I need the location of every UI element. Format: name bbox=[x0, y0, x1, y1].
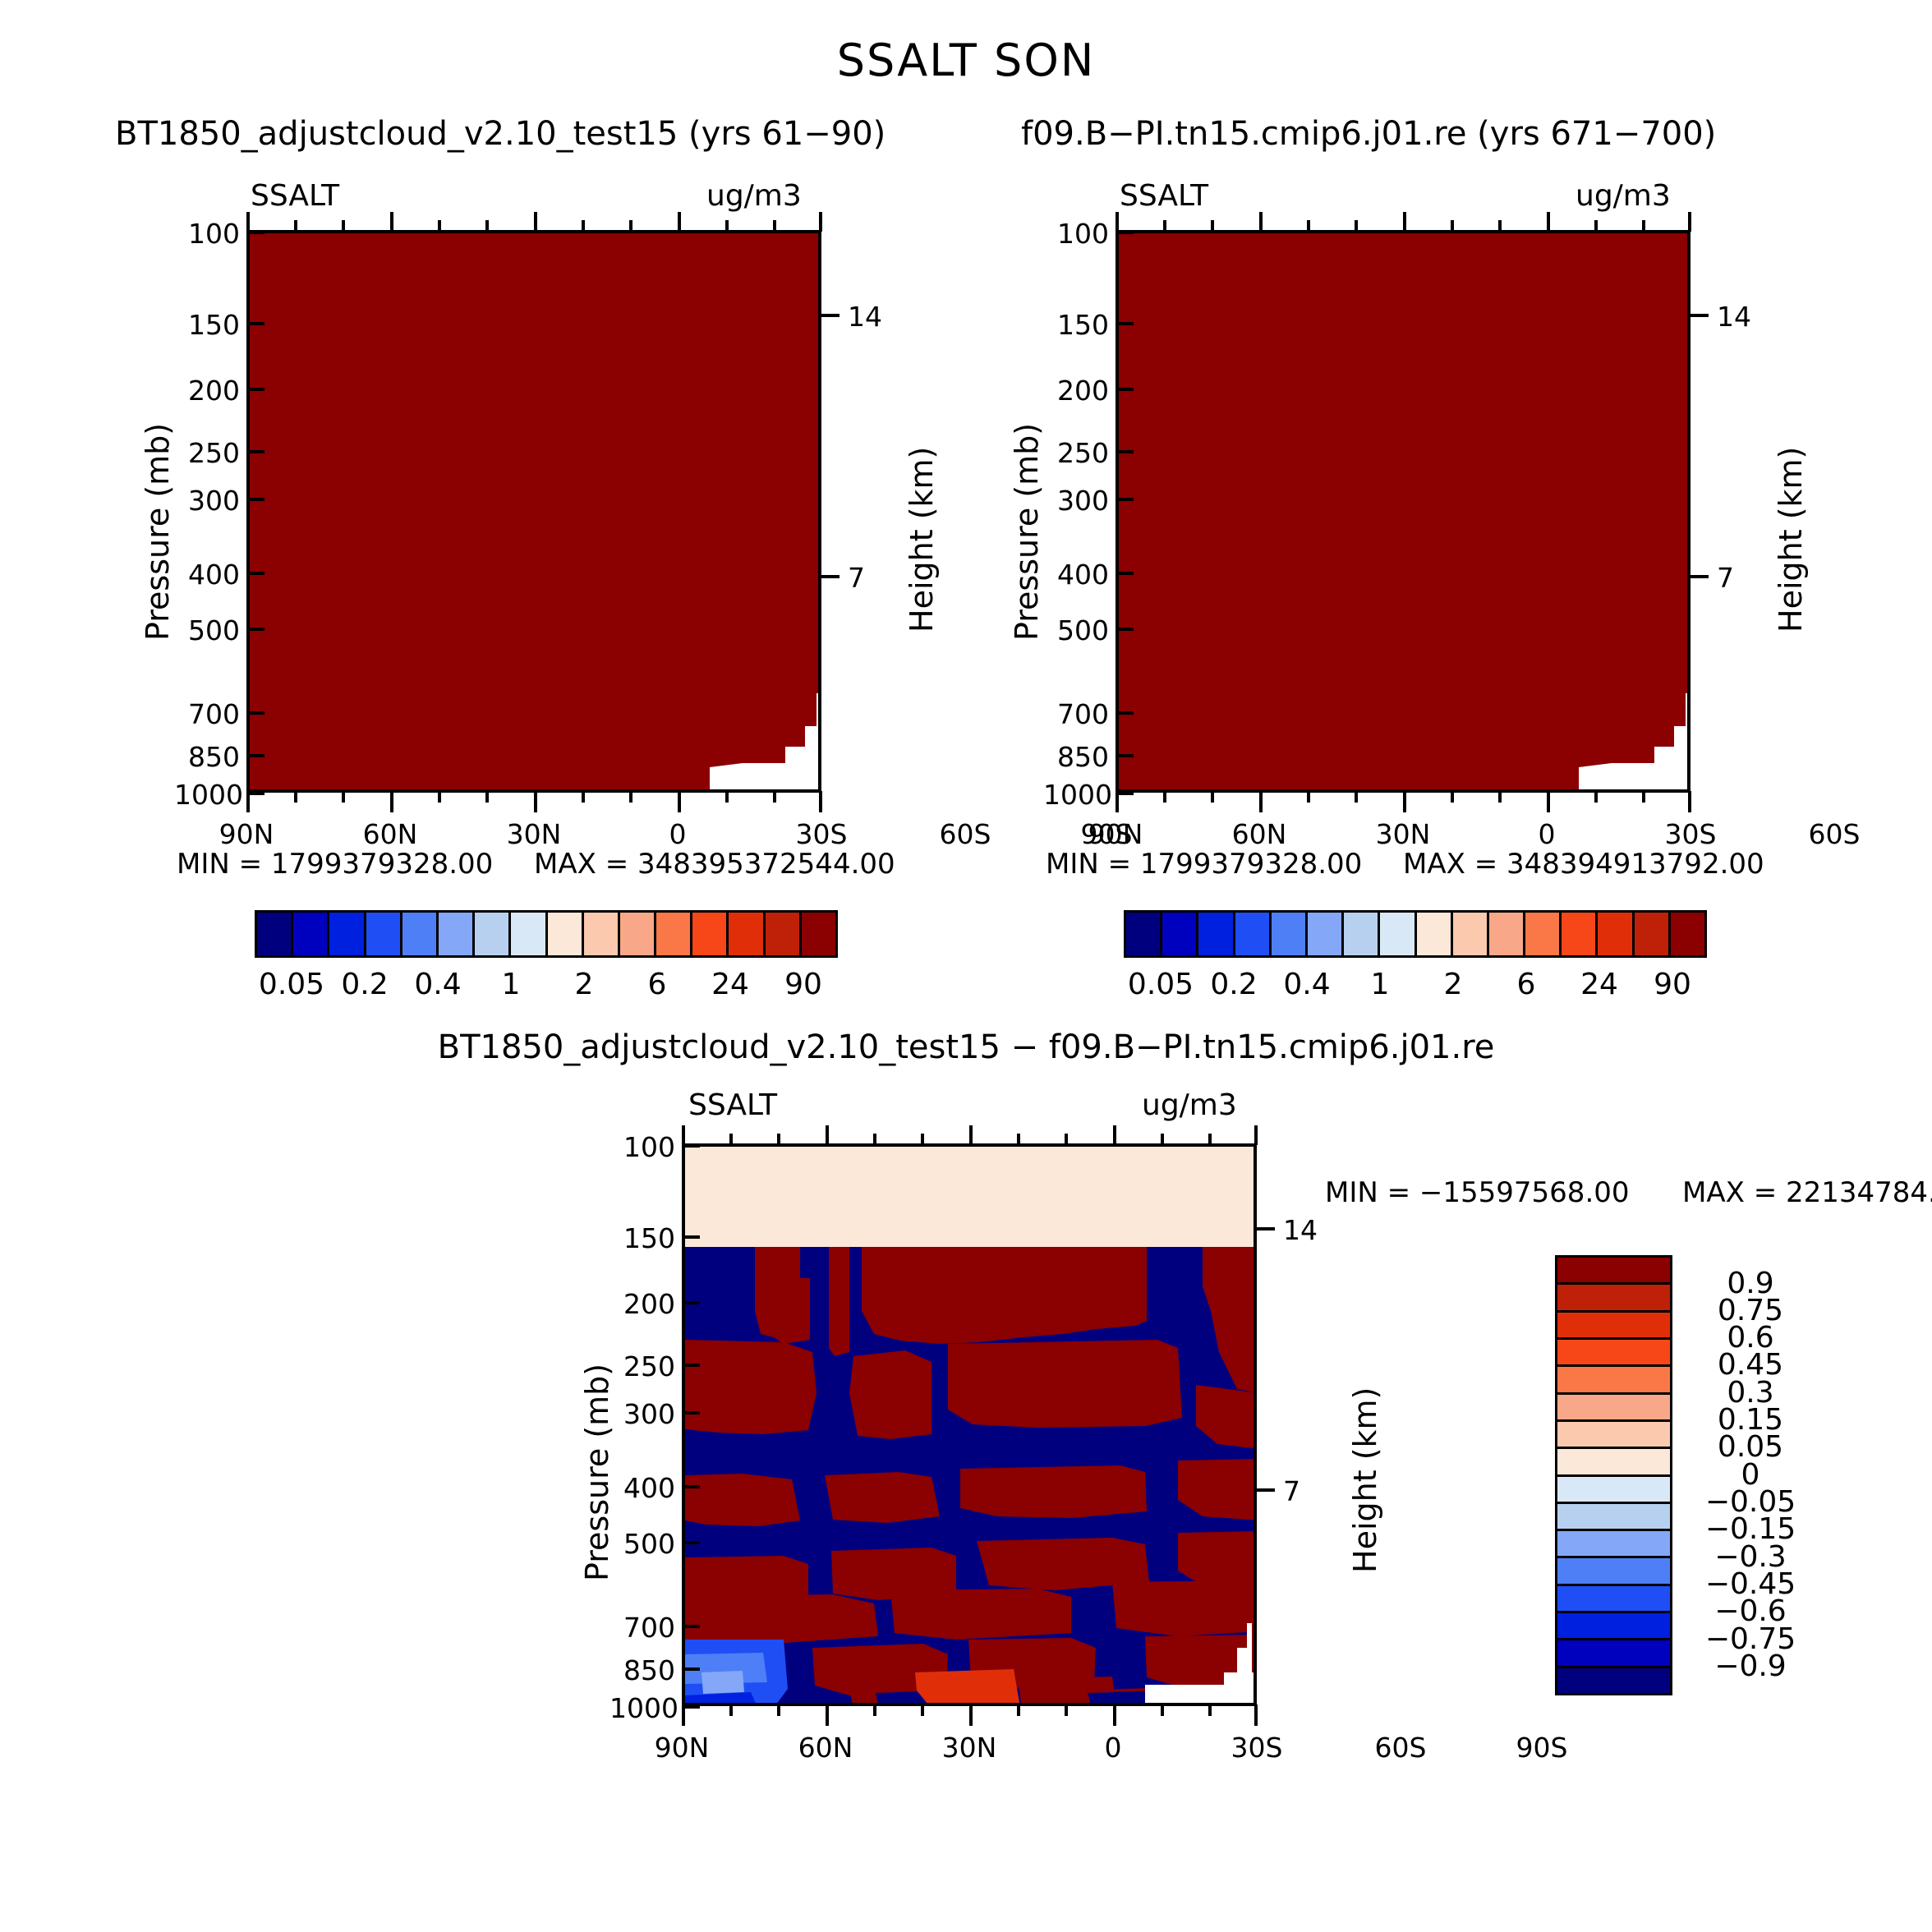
colorbar-swatch bbox=[1380, 913, 1416, 955]
colorbar-swatch bbox=[1453, 913, 1489, 955]
panel-left-colorbar bbox=[255, 910, 838, 958]
colorbar-swatch bbox=[1557, 1258, 1670, 1285]
colorbar-swatch bbox=[257, 913, 293, 955]
ytick-label: 150 bbox=[623, 1222, 675, 1254]
xtick-label: 0 bbox=[1072, 1732, 1154, 1764]
xtick-label: 60N bbox=[349, 818, 431, 850]
panel-diff-top-ticks bbox=[682, 1125, 1257, 1145]
panel-diff-contour-field bbox=[685, 1147, 1257, 1706]
ytick-label: 700 bbox=[623, 1612, 675, 1644]
colorbar-swatch bbox=[1489, 913, 1525, 955]
panel-left-y-axis-title: Pressure (mb) bbox=[140, 423, 176, 641]
colorbar-swatch bbox=[1126, 913, 1162, 955]
colorbar-swatch bbox=[1557, 1340, 1670, 1367]
colorbar-swatch bbox=[656, 913, 692, 955]
colorbar-swatch bbox=[1162, 913, 1198, 955]
xtick-label: 0 bbox=[637, 818, 719, 850]
panel-left-top-ticks bbox=[246, 212, 821, 232]
colorbar-swatch bbox=[1557, 1395, 1670, 1422]
xtick-label: 30N bbox=[928, 1732, 1010, 1764]
colorbar-swatch bbox=[439, 913, 475, 955]
panel-right-unit-label: ug/m3 bbox=[1575, 179, 1671, 213]
ytick-label: 300 bbox=[623, 1398, 675, 1430]
panel-diff-unit-label: ug/m3 bbox=[1142, 1088, 1237, 1122]
y2tick-label: 7 bbox=[1283, 1475, 1300, 1507]
ytick-label: 700 bbox=[1056, 698, 1109, 730]
main-title: SSALT SON bbox=[0, 34, 1932, 86]
colorbar-swatch bbox=[802, 913, 835, 955]
colorbar-swatch bbox=[1598, 913, 1634, 955]
panel-left-bottom-ticks bbox=[246, 791, 821, 812]
ytick-label: 300 bbox=[187, 485, 240, 517]
panel-right-title: f09.B−PI.tn15.cmip6.j01.re (yrs 671−700) bbox=[1021, 115, 1716, 153]
xtick-label: 90N bbox=[1074, 818, 1157, 850]
panel-left-unit-label: ug/m3 bbox=[706, 179, 802, 213]
ytick-label: 850 bbox=[623, 1654, 675, 1686]
xtick-label: 30S bbox=[1216, 1732, 1298, 1764]
ytick-label: 200 bbox=[187, 375, 240, 407]
ytick-label: 100 bbox=[187, 218, 240, 250]
colorbar-tick-label: 90 bbox=[729, 968, 877, 1001]
y2tick-label: 14 bbox=[848, 301, 882, 333]
ytick-label: 150 bbox=[1056, 309, 1109, 341]
panel-right-plot-area bbox=[1115, 230, 1690, 793]
y2tick-label: 7 bbox=[1717, 562, 1734, 594]
panel-right-min-text: MIN = 1799379328.00 bbox=[1046, 848, 1362, 881]
colorbar-swatch bbox=[1557, 1531, 1670, 1558]
colorbar-swatch bbox=[1525, 913, 1562, 955]
colorbar-swatch bbox=[1557, 1586, 1670, 1613]
ytick-label: 1000 bbox=[174, 779, 240, 811]
ytick-label: 400 bbox=[623, 1472, 675, 1504]
colorbar-swatch bbox=[1557, 1640, 1670, 1667]
xtick-label: 60N bbox=[1218, 818, 1300, 850]
colorbar-swatch bbox=[366, 913, 402, 955]
panel-left-max-text: MAX = 348395372544.00 bbox=[534, 848, 895, 881]
colorbar-swatch bbox=[1557, 1613, 1670, 1640]
panel-diff-max-text: MAX = 22134784. bbox=[1682, 1176, 1932, 1209]
colorbar-swatch bbox=[1562, 913, 1598, 955]
panel-left-missing-region bbox=[250, 233, 821, 793]
colorbar-swatch bbox=[1557, 1668, 1670, 1693]
ytick-label: 500 bbox=[1056, 614, 1109, 646]
colorbar-swatch bbox=[584, 913, 620, 955]
panel-diff-y2-axis-title: Height (km) bbox=[1347, 1387, 1383, 1573]
colorbar-swatch bbox=[1557, 1422, 1670, 1449]
ytick-label: 250 bbox=[623, 1350, 675, 1382]
ytick-label: 850 bbox=[187, 741, 240, 773]
panel-left-plot-area bbox=[246, 230, 821, 793]
panel-right-y-axis-title: Pressure (mb) bbox=[1009, 423, 1045, 641]
colorbar-swatch bbox=[1557, 1504, 1670, 1531]
colorbar-swatch bbox=[475, 913, 511, 955]
colorbar-swatch bbox=[329, 913, 366, 955]
xtick-label: 30N bbox=[493, 818, 575, 850]
ytick-label: 250 bbox=[1056, 437, 1109, 469]
ytick-label: 100 bbox=[1056, 218, 1109, 250]
ytick-label: 1000 bbox=[609, 1692, 675, 1724]
panel-right-colorbar bbox=[1124, 910, 1707, 958]
panel-right-top-ticks bbox=[1115, 212, 1690, 232]
ytick-label: 850 bbox=[1056, 741, 1109, 773]
colorbar-swatch bbox=[1557, 1367, 1670, 1394]
xtick-label: 60S bbox=[1793, 818, 1875, 850]
colorbar-tick-label: 90 bbox=[1598, 968, 1746, 1001]
panel-diff-bottom-ticks bbox=[682, 1704, 1257, 1726]
colorbar-swatch bbox=[1272, 913, 1308, 955]
panel-diff-variable-label: SSALT bbox=[688, 1088, 777, 1122]
xtick-label: 30S bbox=[1649, 818, 1732, 850]
colorbar-swatch bbox=[1635, 913, 1671, 955]
xtick-label: 0 bbox=[1506, 818, 1588, 850]
panel-diff-plot-area bbox=[682, 1143, 1257, 1706]
panel-diff-min-text: MIN = −15597568.00 bbox=[1325, 1176, 1630, 1209]
xtick-label: 60N bbox=[784, 1732, 867, 1764]
panel-right-bottom-ticks bbox=[1115, 791, 1690, 812]
colorbar-swatch bbox=[1557, 1477, 1670, 1504]
panel-right-missing-region bbox=[1119, 233, 1690, 793]
ytick-label: 400 bbox=[1056, 559, 1109, 591]
ytick-label: 250 bbox=[187, 437, 240, 469]
panel-diff-y-axis-title: Pressure (mb) bbox=[579, 1364, 615, 1581]
xtick-label: 90S bbox=[1501, 1732, 1583, 1764]
panel-right-y2-axis-title: Height (km) bbox=[1773, 447, 1809, 632]
ytick-label: 100 bbox=[623, 1131, 675, 1163]
panel-left-title: BT1850_adjustcloud_v2.10_test15 (yrs 61−… bbox=[115, 115, 885, 153]
ytick-label: 200 bbox=[1056, 375, 1109, 407]
colorbar-swatch bbox=[1417, 913, 1453, 955]
colorbar-swatch bbox=[1198, 913, 1235, 955]
colorbar-swatch bbox=[1671, 913, 1704, 955]
colorbar-swatch bbox=[548, 913, 584, 955]
panel-left-min-text: MIN = 1799379328.00 bbox=[177, 848, 493, 881]
ytick-label: 150 bbox=[187, 309, 240, 341]
xtick-label: 90N bbox=[205, 818, 287, 850]
panel-diff-title: BT1850_adjustcloud_v2.10_test15 − f09.B−… bbox=[0, 1028, 1932, 1066]
xtick-label: 30N bbox=[1362, 818, 1444, 850]
ytick-label: 1000 bbox=[1043, 779, 1109, 811]
y2tick-label: 7 bbox=[848, 562, 865, 594]
colorbar-swatch bbox=[402, 913, 439, 955]
colorbar-swatch bbox=[1557, 1285, 1670, 1312]
colorbar-swatch bbox=[766, 913, 802, 955]
ytick-label: 500 bbox=[623, 1528, 675, 1560]
panel-right-variable-label: SSALT bbox=[1120, 179, 1208, 213]
ytick-label: 500 bbox=[187, 614, 240, 646]
colorbar-swatch bbox=[511, 913, 547, 955]
xtick-label: 90N bbox=[641, 1732, 723, 1764]
colorbar-swatch bbox=[1344, 913, 1380, 955]
colorbar-swatch bbox=[1557, 1558, 1670, 1585]
ytick-label: 200 bbox=[623, 1288, 675, 1320]
xtick-label: 30S bbox=[780, 818, 862, 850]
colorbar-swatch bbox=[1308, 913, 1344, 955]
xtick-label: 60S bbox=[1359, 1732, 1442, 1764]
colorbar-swatch bbox=[1235, 913, 1272, 955]
panel-right-max-text: MAX = 348394913792.00 bbox=[1403, 848, 1764, 881]
colorbar-swatch bbox=[1557, 1313, 1670, 1340]
xtick-label: 60S bbox=[924, 818, 1006, 850]
colorbar-swatch bbox=[692, 913, 729, 955]
colorbar-swatch bbox=[729, 913, 765, 955]
colorbar-swatch bbox=[293, 913, 329, 955]
panel-left-y2-axis-title: Height (km) bbox=[904, 447, 940, 632]
y2tick-label: 14 bbox=[1717, 301, 1751, 333]
panel-diff-colorbar-labels: 0.9 0.75 0.6 0.45 0.3 0.15 0.05 0 −0.05 … bbox=[1681, 1255, 1861, 1695]
colorbar-swatch bbox=[620, 913, 656, 955]
panel-diff-colorbar bbox=[1555, 1255, 1672, 1695]
ytick-label: 300 bbox=[1056, 485, 1109, 517]
ytick-label: 400 bbox=[187, 559, 240, 591]
panel-left-variable-label: SSALT bbox=[251, 179, 339, 213]
colorbar-tick-label: −0.9 bbox=[1681, 1649, 1820, 1683]
y2tick-label: 14 bbox=[1283, 1214, 1318, 1246]
colorbar-swatch bbox=[1557, 1449, 1670, 1476]
ytick-label: 700 bbox=[187, 698, 240, 730]
